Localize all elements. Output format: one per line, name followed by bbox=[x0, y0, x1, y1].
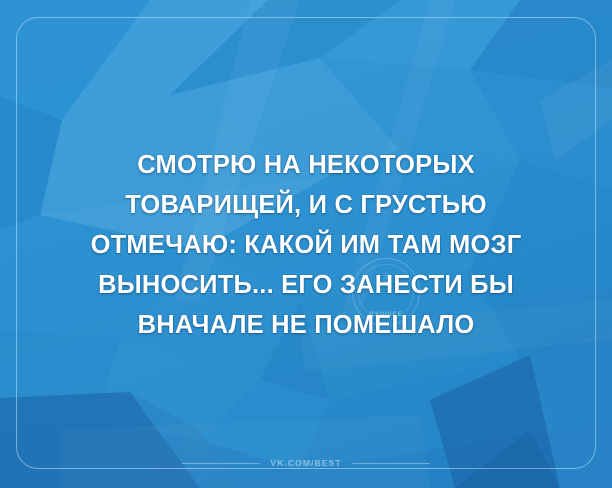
quote-line-1: СМОТРЮ НА НЕКОТОРЫХ bbox=[0, 145, 612, 185]
quote-text-block: СМОТРЮ НА НЕКОТОРЫХ ТОВАРИЩЕЙ, И С ГРУСТ… bbox=[0, 145, 612, 345]
quote-line-2: ТОВАРИЩЕЙ, И С ГРУСТЬЮ bbox=[0, 185, 612, 225]
quote-line-3: ОТМЕЧАЮ: КАКОЙ ИМ ТАМ МОЗГ bbox=[0, 225, 612, 265]
quote-line-4: ВЫНОСИТЬ... ЕГО ЗАНЕСТИ БЫ bbox=[0, 265, 612, 305]
quote-poster: ♁ ЛУЧШЕЕ СМОТРЮ НА НЕКОТОРЫХ ТОВАРИЩЕЙ, … bbox=[0, 0, 612, 488]
quote-line-5: ВНАЧАЛЕ НЕ ПОМЕШАЛО bbox=[0, 305, 612, 345]
